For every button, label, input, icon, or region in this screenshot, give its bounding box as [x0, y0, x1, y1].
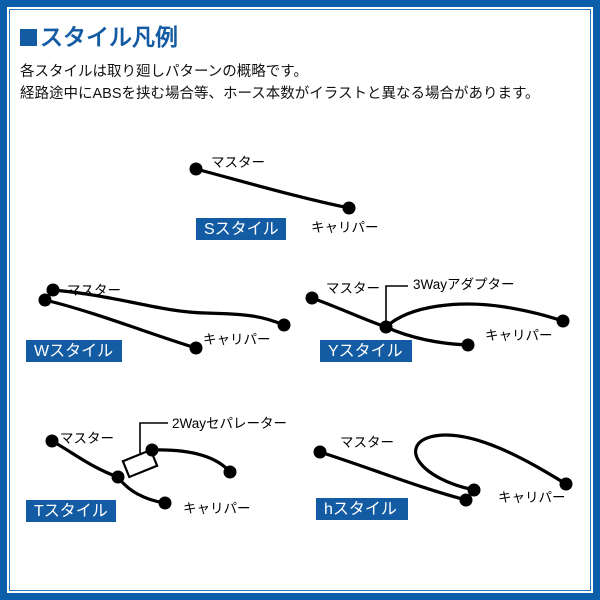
connection-node: [39, 294, 52, 307]
caliper-label: キャリパー: [485, 328, 553, 343]
hose-path: [320, 452, 466, 500]
style-legend-page: スタイル凡例 各スタイルは取り廻しパターンの概略です。 経路途中にABSを挟む場…: [0, 0, 600, 600]
hose-path: [312, 298, 386, 327]
hose-path: [118, 477, 165, 503]
connection-node: [190, 163, 203, 176]
master-label: マスター: [326, 281, 380, 296]
style-group-w-style: マスターキャリパーWスタイル: [26, 283, 291, 362]
connection-node: [224, 466, 237, 479]
connection-node: [380, 321, 393, 334]
connection-node: [146, 444, 159, 457]
style-badge-label-h-style: hスタイル: [324, 500, 397, 518]
style-group-h-style: マスターキャリパーhスタイル: [314, 435, 573, 520]
style-group-s-style: マスターキャリパーSスタイル: [190, 155, 379, 240]
style-badge-label-w-style: Wスタイル: [34, 342, 113, 360]
style-diagrams: マスターキャリパーSスタイルマスターキャリパーWスタイルマスター3Wayアダプタ…: [0, 0, 600, 600]
master-label: マスター: [211, 155, 265, 170]
leader-line: [386, 286, 408, 327]
connection-node: [159, 497, 172, 510]
connection-node: [468, 484, 481, 497]
master-label: マスター: [60, 431, 114, 446]
style-group-t-style: マスター2WayセパレーターキャリパーTスタイル: [26, 416, 287, 522]
master-label: マスター: [67, 283, 121, 298]
master-label: マスター: [340, 435, 394, 450]
style-badge-label-y-style: Yスタイル: [328, 342, 403, 360]
separator-label: 2Wayセパレーター: [172, 416, 287, 431]
connection-node: [46, 435, 59, 448]
connection-node: [278, 319, 291, 332]
hose-path: [196, 169, 349, 208]
style-badge-label-t-style: Tスタイル: [34, 502, 108, 520]
connection-node: [560, 478, 573, 491]
adapter-label: 3Wayアダプター: [413, 277, 515, 292]
caliper-label: キャリパー: [311, 220, 379, 235]
connection-node: [557, 315, 570, 328]
hose-path: [386, 304, 563, 327]
hose-path: [416, 435, 566, 490]
style-badge-label-s-style: Sスタイル: [204, 220, 279, 238]
connection-node: [462, 339, 475, 352]
connection-node: [314, 446, 327, 459]
connection-node: [343, 202, 356, 215]
connection-node: [306, 292, 319, 305]
hose-path: [52, 441, 118, 477]
caliper-label: キャリパー: [203, 332, 271, 347]
hose-path: [152, 450, 230, 472]
connection-node: [190, 342, 203, 355]
caliper-label: キャリパー: [183, 501, 251, 516]
style-group-y-style: マスター3WayアダプターキャリパーYスタイル: [306, 277, 570, 362]
caliper-label: キャリパー: [498, 490, 566, 505]
connection-node: [112, 471, 125, 484]
